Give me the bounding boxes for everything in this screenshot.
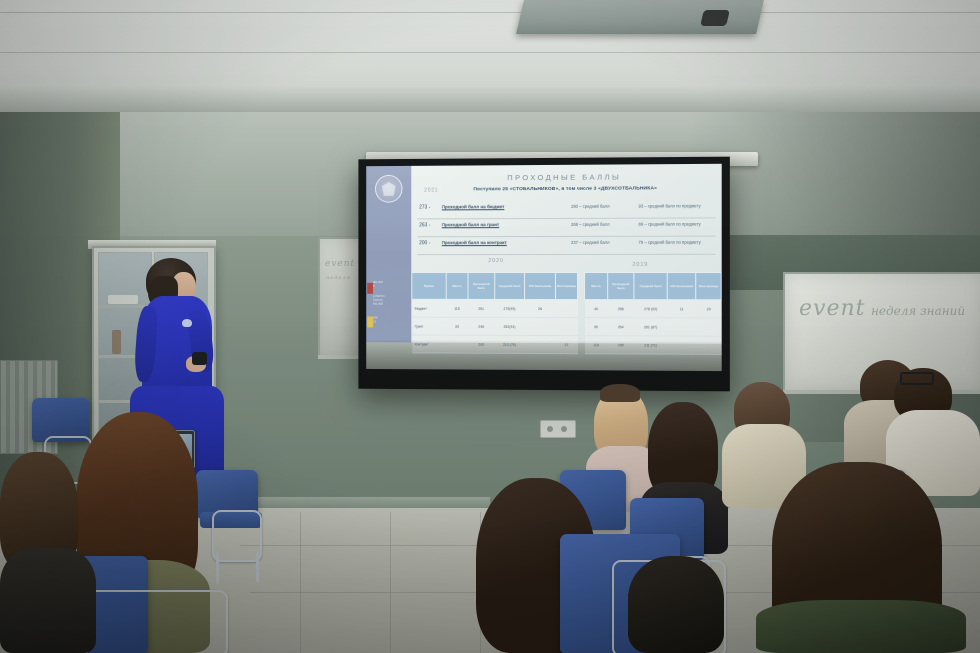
presentation-clicker[interactable]: [192, 352, 207, 365]
chair-frame: [84, 590, 228, 653]
score-subject: 79 – средний балл по предмету: [638, 240, 700, 245]
floor-tile-line: [300, 512, 301, 653]
rail-text-one: 981-800 8: [373, 281, 406, 289]
slide-year: 2021: [424, 188, 438, 194]
slide-title: ПРОХОДНЫЕ БАЛЛЫ: [415, 172, 715, 183]
score-label: Проходной балл на грант: [442, 222, 499, 227]
cell: 261: [468, 299, 494, 317]
wall-socket: [540, 420, 576, 438]
cell: 261 (87): [634, 318, 667, 336]
whiteboard-right-note: event: [799, 296, 865, 321]
cabinet-item: [108, 295, 138, 304]
score-average: 268 – средний балл: [571, 222, 610, 227]
th-right-0: Место: [585, 272, 608, 299]
cell: 246: [468, 317, 494, 335]
row-name: Грант: [412, 317, 446, 335]
score-value: 273 -: [419, 204, 430, 210]
cell: [696, 318, 721, 336]
th-left-1: Место: [446, 273, 468, 300]
cell: 33: [446, 317, 468, 335]
table-row: Бюджет 115 261 279(93) 26 40 258 278 (92…: [412, 299, 721, 318]
th-left-3: Средний балл: [494, 273, 524, 300]
chair-frame: [212, 510, 262, 562]
cell: 11: [667, 300, 696, 318]
eyeglasses-icon: [900, 372, 934, 385]
table-header-row: Прием Место Проходной балл Средний балл …: [412, 272, 721, 299]
score-row: 200 - Проходной балл на контракт 237 – с…: [417, 237, 715, 256]
cell-gap: [578, 318, 585, 336]
presentation-slide: 981-800 8 Lobachev Science 651-800 556 1…: [366, 164, 721, 344]
screen-surface: 981-800 8 Lobachev Science 651-800 556 1…: [366, 164, 721, 371]
th-left-5: Иностранцы: [555, 272, 577, 299]
projector-lens-icon: [700, 10, 730, 26]
rail-text-two: Lobachev Science 651-800: [373, 295, 406, 307]
score-label: Проходной балл на бюджет: [442, 204, 505, 209]
cell: 258: [607, 300, 634, 318]
cell-gap: [578, 300, 585, 318]
score-label: Проходной балл на контракт: [442, 240, 507, 245]
score-value: 263 -: [419, 222, 430, 228]
chair-leg: [256, 552, 259, 582]
th-right-4: Иностранцы: [696, 272, 721, 299]
presenter-brooch: [182, 319, 192, 327]
rail-text-three: 556 13: [373, 317, 406, 325]
university-emblem-icon: [375, 175, 402, 203]
th-gap: [578, 272, 585, 299]
cell: 50: [585, 318, 608, 336]
row-name: Бюджет: [412, 299, 446, 317]
audience-member-body: [0, 548, 96, 653]
whiteboard-left-note: event: [325, 259, 355, 269]
ceiling-seam: [0, 52, 980, 53]
score-average: 280 – средний балл: [571, 204, 610, 209]
th-left-0: Прием: [412, 273, 446, 300]
slide-sidebar: 981-800 8 Lobachev Science 651-800 556 1…: [366, 166, 411, 343]
score-value: 200 -: [419, 240, 430, 246]
th-right-3: 100 балльники: [667, 272, 696, 299]
score-row: 273 - Проходной балл на бюджет 280 – сре…: [417, 200, 715, 219]
table-row: Грант 33 246 252(91) 50 254 261 (87): [412, 317, 721, 336]
score-average: 237 – средний балл: [571, 240, 610, 245]
cell: 254: [607, 318, 634, 336]
cell: 40: [585, 300, 608, 318]
table-group-2020: 2020: [488, 258, 504, 264]
ceiling-seam: [0, 12, 980, 13]
score-row: 263 - Проходной балл на грант 268 – сред…: [417, 218, 715, 237]
projection-screen: 981-800 8 Lobachev Science 651-800 556 1…: [358, 157, 729, 392]
classroom-photo: event неделя event неделя знаний 981-800…: [0, 0, 980, 653]
cell: [667, 318, 696, 336]
cell: [525, 317, 556, 335]
cell: [555, 300, 577, 318]
screen-lower-shadow: [366, 340, 721, 371]
cell: [555, 318, 577, 336]
cell: 26: [525, 299, 556, 317]
audience-member-bag: [628, 556, 724, 653]
audience-member-body: [756, 600, 966, 653]
slide-lead-text: Поступило 25 «СТОБАЛЬНИКОВ», в том числе…: [473, 186, 657, 192]
floor-tile-line: [390, 512, 391, 653]
th-right-1: Проходной балл: [607, 272, 634, 299]
score-subject: 89 – средний балл по предмету: [638, 221, 700, 226]
chair-leg: [216, 552, 219, 584]
audience-member-roots: [600, 384, 640, 402]
th-right-2: Средний балл: [634, 272, 667, 299]
score-subject: 93 – средний балл по предмету: [638, 203, 700, 208]
th-left-2: Проходной балл: [468, 273, 494, 300]
cell: 279(93): [494, 299, 524, 317]
cell: 252(91): [494, 317, 524, 335]
cell: 278 (92): [634, 300, 667, 318]
cell: 115: [446, 299, 468, 317]
whiteboard-left-note-sub: неделя: [326, 275, 351, 281]
table-group-2019: 2019: [632, 262, 648, 268]
cabinet-item: [112, 330, 121, 354]
whiteboard-right-note-sub: неделя знаний: [871, 304, 965, 318]
slide-content: ПРОХОДНЫЕ БАЛЛЫ 2021 Поступило 25 «СТОБА…: [411, 164, 721, 344]
cell: 20: [696, 300, 721, 318]
th-left-4: 100 балльники: [525, 272, 556, 299]
